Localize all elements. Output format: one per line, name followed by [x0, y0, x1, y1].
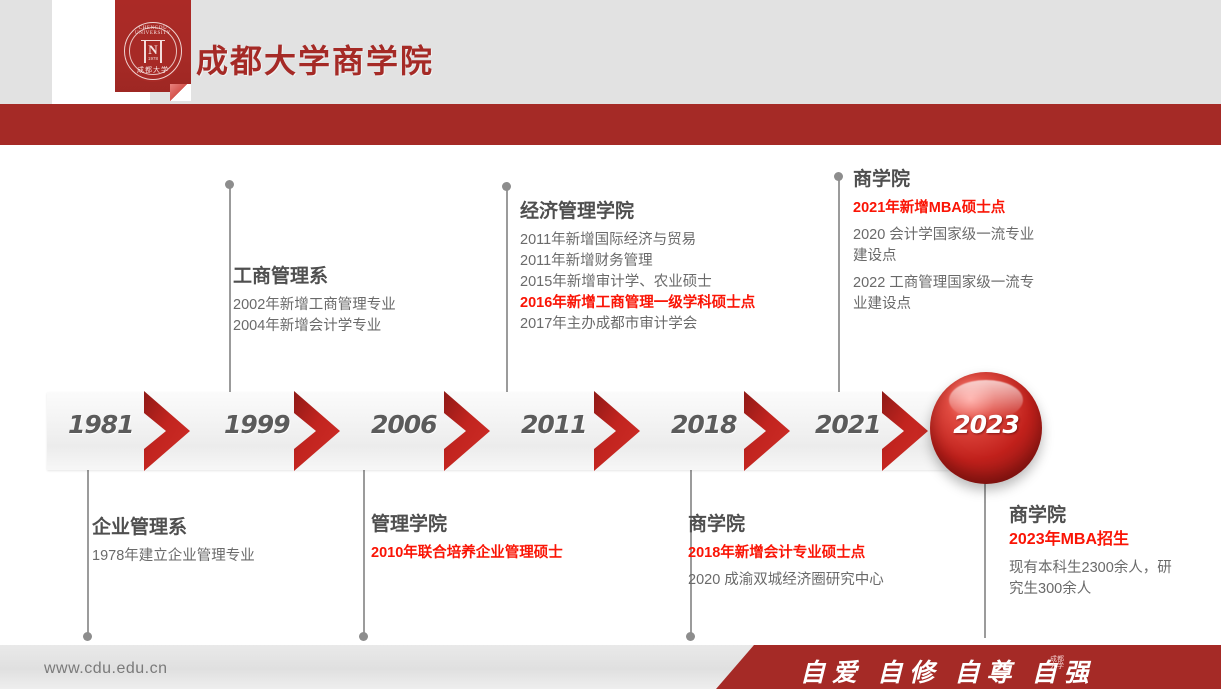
timeline-chevron-icon-4 [590, 389, 644, 474]
milestone-line: 2004年新增会计学专业 [233, 316, 396, 337]
timeline-highlight-sphere[interactable]: 2023 [930, 372, 1042, 484]
connector-dot-1999-top [225, 180, 234, 189]
milestone-title: 商学院 [853, 164, 1035, 191]
milestone-line-highlight: 2018年新增会计专业硕士点 [688, 543, 884, 564]
milestone-line: 2015年新增审计学、农业硕士 [520, 272, 755, 293]
chevron-right-icon [878, 389, 932, 474]
connector-line-1999 [229, 184, 231, 392]
timeline-chevron-icon-5 [740, 389, 794, 474]
milestone-line-highlight: 2010年联合培养企业管理硕士 [371, 543, 563, 564]
footer-small-seal: 成都大学 [1050, 656, 1064, 670]
timeline-year-2011[interactable]: 2011 [521, 410, 587, 439]
header-red-bar [0, 104, 1221, 145]
timeline-year-2021[interactable]: 2021 [815, 410, 881, 439]
milestone-line: 现有本科生2300余人，研究生300余人 [1009, 558, 1184, 600]
timeline-year-1981[interactable]: 1981 [68, 410, 134, 439]
milestone-title: 工商管理系 [233, 261, 396, 288]
seal-year: 1978 [122, 56, 184, 61]
milestone-block-1981: 企业管理系 1978年建立企业管理专业 [92, 512, 255, 567]
logo-ribbon-fold-icon [170, 84, 191, 101]
milestone-block-2023: 商学院 2023年MBA招生 现有本科生2300余人，研究生300余人 [1009, 500, 1184, 600]
milestone-line: 2020 成渝双城经济圈研究中心 [688, 570, 884, 591]
chevron-right-icon [590, 389, 644, 474]
milestone-block-2021: 商学院 2021年新增MBA硕士点 2020 会计学国家级一流专业建设点 202… [853, 164, 1035, 315]
chevron-right-icon [140, 389, 194, 474]
milestone-line: 2020 会计学国家级一流专业建设点 [853, 225, 1035, 267]
milestone-title: 经济管理学院 [520, 196, 755, 223]
milestone-line: 2011年新增财务管理 [520, 251, 755, 272]
milestone-line: 2022 工商管理国家级一流专业建设点 [853, 273, 1035, 315]
chevron-right-icon [290, 389, 344, 474]
connector-dot-2021-top [834, 172, 843, 181]
milestone-block-2006: 管理学院 2010年联合培养企业管理硕士 [371, 509, 563, 564]
milestone-block-1999: 工商管理系 2002年新增工商管理专业 2004年新增会计学专业 [233, 261, 396, 337]
timeline-year-2006[interactable]: 2006 [371, 410, 437, 439]
milestone-line: 2017年主办成都市审计学会 [520, 314, 755, 335]
connector-dot-2006-bottom [359, 632, 368, 641]
chevron-right-icon [440, 389, 494, 474]
university-seal-icon: CHENGDU UNIVERSITY N 1978 成都大学 [122, 20, 184, 82]
connector-line-2006 [363, 447, 365, 638]
timeline-chevron-icon-6 [878, 389, 932, 474]
footer-website-url[interactable]: www.cdu.edu.cn [44, 660, 168, 678]
milestone-title: 管理学院 [371, 509, 563, 536]
timeline-year-1999[interactable]: 1999 [224, 410, 290, 439]
milestone-line-highlight: 2023年MBA招生 [1009, 529, 1184, 550]
seal-chinese-name: 成都大学 [122, 65, 184, 75]
connector-line-2021 [838, 176, 840, 392]
page-title: 成都大学商学院 [196, 36, 434, 82]
timeline-chevron-icon-3 [440, 389, 494, 474]
seal-english-text: CHENGDU UNIVERSITY [122, 26, 184, 36]
chevron-right-icon [740, 389, 794, 474]
connector-line-2011 [506, 186, 508, 392]
milestone-line: 2002年新增工商管理专业 [233, 295, 396, 316]
timeline-chevron-icon-1 [140, 389, 194, 474]
logo-ribbon: CHENGDU UNIVERSITY N 1978 成都大学 [52, 0, 150, 104]
connector-dot-2011-top [502, 182, 511, 191]
timeline-chevron-icon-2 [290, 389, 344, 474]
timeline-year-2023: 2023 [930, 410, 1042, 439]
milestone-block-2018: 商学院 2018年新增会计专业硕士点 2020 成渝双城经济圈研究中心 [688, 509, 884, 591]
milestone-block-2011: 经济管理学院 2011年新增国际经济与贸易 2011年新增财务管理 2015年新… [520, 196, 755, 335]
milestone-title: 商学院 [688, 509, 884, 536]
milestone-line-highlight: 2016年新增工商管理一级学科硕士点 [520, 293, 755, 314]
timeline-year-2018[interactable]: 2018 [671, 410, 737, 439]
milestone-line: 1978年建立企业管理专业 [92, 546, 255, 567]
connector-dot-2018-bottom [686, 632, 695, 641]
milestone-title: 企业管理系 [92, 512, 255, 539]
slide-canvas: CHENGDU UNIVERSITY N 1978 成都大学 成都大学商学院 1… [0, 0, 1221, 689]
milestone-line-highlight: 2021年新增MBA硕士点 [853, 198, 1035, 219]
connector-line-1981 [87, 452, 89, 638]
header-band: CHENGDU UNIVERSITY N 1978 成都大学 成都大学商学院 [0, 0, 1221, 104]
connector-dot-1981-bottom [83, 632, 92, 641]
milestone-title: 商学院 [1009, 500, 1184, 527]
milestone-line: 2011年新增国际经济与贸易 [520, 230, 755, 251]
